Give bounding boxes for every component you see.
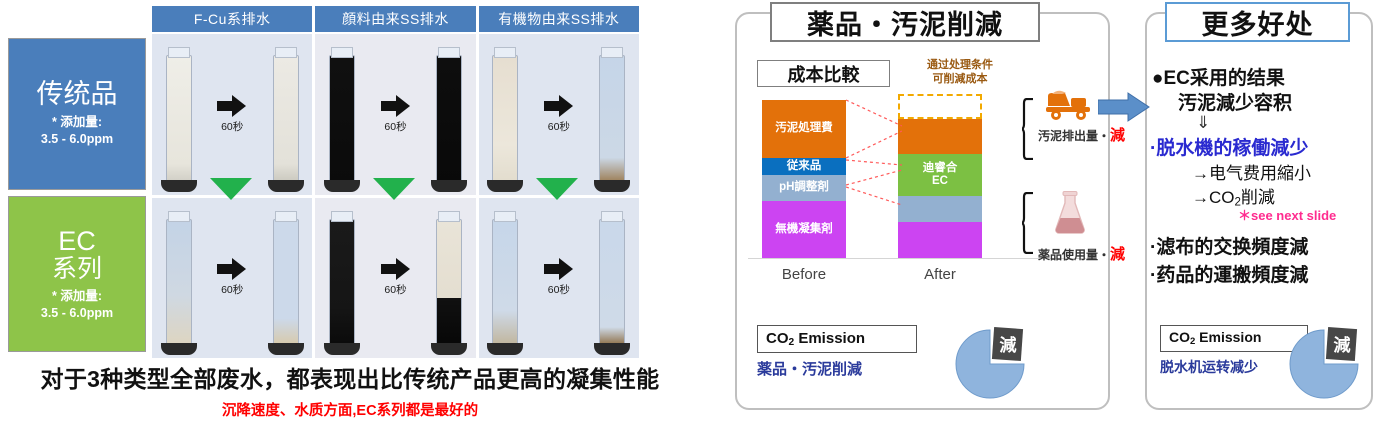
pie-badge-a: 減 — [1000, 335, 1017, 356]
bar-seg-reducible-cost — [898, 94, 982, 119]
bracket-sludge — [1022, 98, 1036, 160]
co2-emission-label-a: CO2 Emission — [766, 330, 865, 348]
benefit-down-arrow: ⇓ — [1196, 113, 1210, 133]
pie-chart-a: 減 — [950, 322, 1040, 402]
right-arrow-icon — [381, 95, 411, 117]
bar-seg-ph-adjuster: pH調整剤 — [762, 175, 846, 201]
pie-badge-b: 減 — [1334, 335, 1351, 356]
row-label-column: 传统品 * 添加量: 3.5 - 6.0ppm EC 系列 * 添加量: 3.5… — [8, 38, 146, 358]
bar-seg-inorganic-coagulant — [898, 222, 982, 258]
photo-cell-conventional-f-cu: 60秒 — [152, 34, 312, 195]
photo-cell-ec-organic: 60秒 — [479, 198, 639, 359]
co2-emission-sub-a: 薬品・汚泥削減 — [757, 358, 862, 379]
cylinder-after — [423, 198, 476, 359]
bar-seg-ec: 迪睿合 EC — [898, 154, 982, 196]
cylinder-before — [152, 198, 205, 359]
benefit-line-sludge-volume: 汚泥減少容积 — [1178, 88, 1292, 115]
elapsed-label: 60秒 — [384, 282, 406, 297]
cylinder-after — [259, 34, 312, 195]
row-label-ec-sub1: * 添加量: — [41, 288, 113, 305]
panel-a-header: 薬品・汚泥削減 — [770, 2, 1040, 42]
bar-seg-sludge-fee: 汚泥処理費 — [762, 100, 846, 158]
column-header-pigment-ss: 顔料由来SS排水 — [315, 6, 475, 32]
right-arrow-icon — [381, 258, 411, 280]
right-arrow-icon — [544, 258, 574, 280]
axis-label-before: Before — [762, 266, 846, 283]
reduction-annotation: 通过处理条件 可削減成本 — [900, 58, 1020, 87]
cylinder-after — [586, 34, 639, 195]
pie-chart-b: 減 — [1286, 322, 1372, 402]
benefit-line-chem-transport: ·药品的運搬頻度減 — [1150, 260, 1308, 287]
reduction-annotation-line2: 可削減成本 — [900, 72, 1020, 86]
cylinder-before — [479, 198, 532, 359]
bar-after: 迪睿合 EC — [898, 94, 982, 258]
green-down-arrow-icon — [210, 178, 252, 200]
cylinder-before — [479, 34, 532, 195]
bracket-label-chemicals: 薬品使用量・減 — [1038, 243, 1125, 264]
blue-right-arrow-icon — [1098, 92, 1150, 122]
bracket-chemicals — [1022, 192, 1036, 254]
dump-truck-icon — [1042, 86, 1098, 122]
column-header-f-cu: F-Cu系排水 — [152, 6, 312, 32]
benefit-line-electricity: →电气费用縮小 — [1192, 159, 1311, 184]
flask-icon — [1052, 190, 1088, 238]
benefit-see-next-slide: ＊see next slide — [1238, 205, 1336, 224]
co2-emission-box-a: CO2 Emission — [757, 325, 917, 353]
row-label-conventional: 传统品 * 添加量: 3.5 - 6.0ppm — [8, 38, 146, 190]
photo-cell-ec-pigment: 60秒 — [315, 198, 475, 359]
elapsed-label: 60秒 — [221, 282, 243, 297]
transition-60s: 60秒 — [532, 34, 586, 195]
panel-b-header: 更多好处 — [1165, 2, 1350, 42]
column-header-row: F-Cu系排水 顔料由来SS排水 有機物由来SS排水 — [152, 6, 639, 32]
transition-60s: 60秒 — [205, 34, 259, 195]
photo-cell-conventional-organic: 60秒 — [479, 34, 639, 195]
cost-comparison-label: 成本比較 — [757, 60, 890, 87]
row-label-conventional-sub1: * 添加量: — [41, 114, 113, 131]
bar-seg-ec-label2: EC — [932, 175, 948, 188]
co2-emission-sub-b: 脱水机运转减少 — [1160, 357, 1258, 377]
elapsed-label: 60秒 — [384, 119, 406, 134]
row-label-ec-title1: EC — [58, 227, 96, 257]
transition-60s: 60秒 — [369, 198, 423, 359]
slide-root: F-Cu系排水 顔料由来SS排水 有機物由来SS排水 传统品 * 添加量: 3.… — [0, 0, 1380, 422]
transition-60s: 60秒 — [205, 198, 259, 359]
transition-60s: 60秒 — [532, 198, 586, 359]
bar-seg-ph-adjuster — [898, 196, 982, 222]
row-label-ec-sub2: 3.5 - 6.0ppm — [41, 305, 113, 322]
cylinder-before — [315, 34, 368, 195]
right-arrow-icon — [217, 258, 247, 280]
cylinder-before — [315, 198, 368, 359]
bar-seg-conventional: 従来品 — [762, 158, 846, 175]
green-down-arrow-icon — [373, 178, 415, 200]
row-label-ec-title2: 系列 — [52, 256, 102, 284]
reduction-annotation-line1: 通过处理条件 — [900, 58, 1020, 72]
cylinder-after — [423, 34, 476, 195]
bracket-label-sludge: 汚泥排出量・減 — [1038, 124, 1125, 145]
elapsed-label: 60秒 — [221, 119, 243, 134]
row-label-ec: EC 系列 * 添加量: 3.5 - 6.0ppm — [8, 196, 146, 352]
benefit-line-dewatering: ·脱水機的稼働減少 — [1150, 133, 1308, 160]
cylinder-before — [152, 34, 205, 195]
right-arrow-icon — [217, 95, 247, 117]
right-arrow-icon — [544, 95, 574, 117]
photo-cell-conventional-pigment: 60秒 — [315, 34, 475, 195]
axis-label-after: After — [898, 266, 982, 283]
row-label-conventional-sub2: 3.5 - 6.0ppm — [41, 131, 113, 148]
elapsed-label: 60秒 — [548, 282, 570, 297]
left-caption: 对于3种类型全部废水，都表现出比传统产品更高的凝集性能 沉降速度、水质方面,EC… — [0, 360, 700, 420]
cylinder-after — [259, 198, 312, 359]
caption-sub: 沉降速度、水质方面,EC系列都是最好的 — [0, 399, 700, 420]
co2-emission-label-b: CO2 Emission — [1169, 329, 1261, 347]
caption-main: 对于3种类型全部废水，都表现出比传统产品更高的凝集性能 — [0, 360, 700, 394]
cylinder-after — [586, 198, 639, 359]
sedimentation-comparison-panel: F-Cu系排水 顔料由来SS排水 有機物由来SS排水 传统品 * 添加量: 3.… — [0, 0, 700, 422]
bar-seg-sludge-fee — [898, 119, 982, 154]
green-down-arrow-icon — [536, 178, 578, 200]
row-label-conventional-title: 传统品 — [37, 80, 118, 110]
transition-60s: 60秒 — [369, 34, 423, 195]
column-header-organic-ss: 有機物由来SS排水 — [479, 6, 639, 32]
bar-seg-ec-label1: 迪睿合 — [923, 162, 958, 175]
elapsed-label: 60秒 — [548, 119, 570, 134]
benefit-line-filter-cloth: ·滤布的交换頻度減 — [1150, 232, 1308, 259]
bar-seg-inorganic-coagulant: 無機凝集剤 — [762, 201, 846, 258]
bar-before: 汚泥処理費 従来品 pH調整剤 無機凝集剤 — [762, 100, 846, 258]
photo-cell-ec-f-cu: 60秒 — [152, 198, 312, 359]
benefit-line-result: ●EC采用的结果 — [1152, 63, 1285, 90]
